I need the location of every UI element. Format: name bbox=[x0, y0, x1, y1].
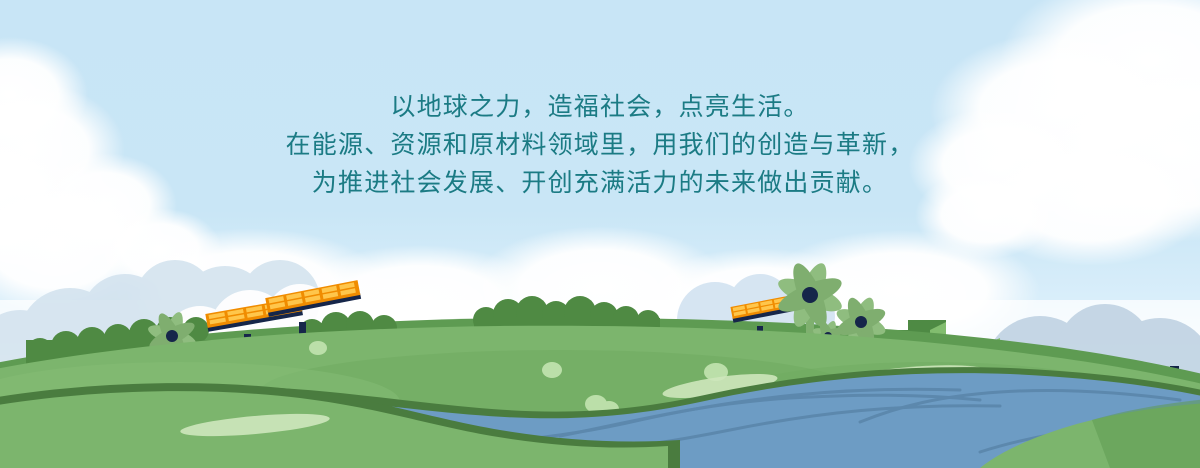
landscape-illustration bbox=[0, 0, 1200, 468]
eco-banner: 以地球之力，造福社会，点亮生活。 在能源、资源和原材料领域里，用我们的创造与革新… bbox=[0, 0, 1200, 468]
